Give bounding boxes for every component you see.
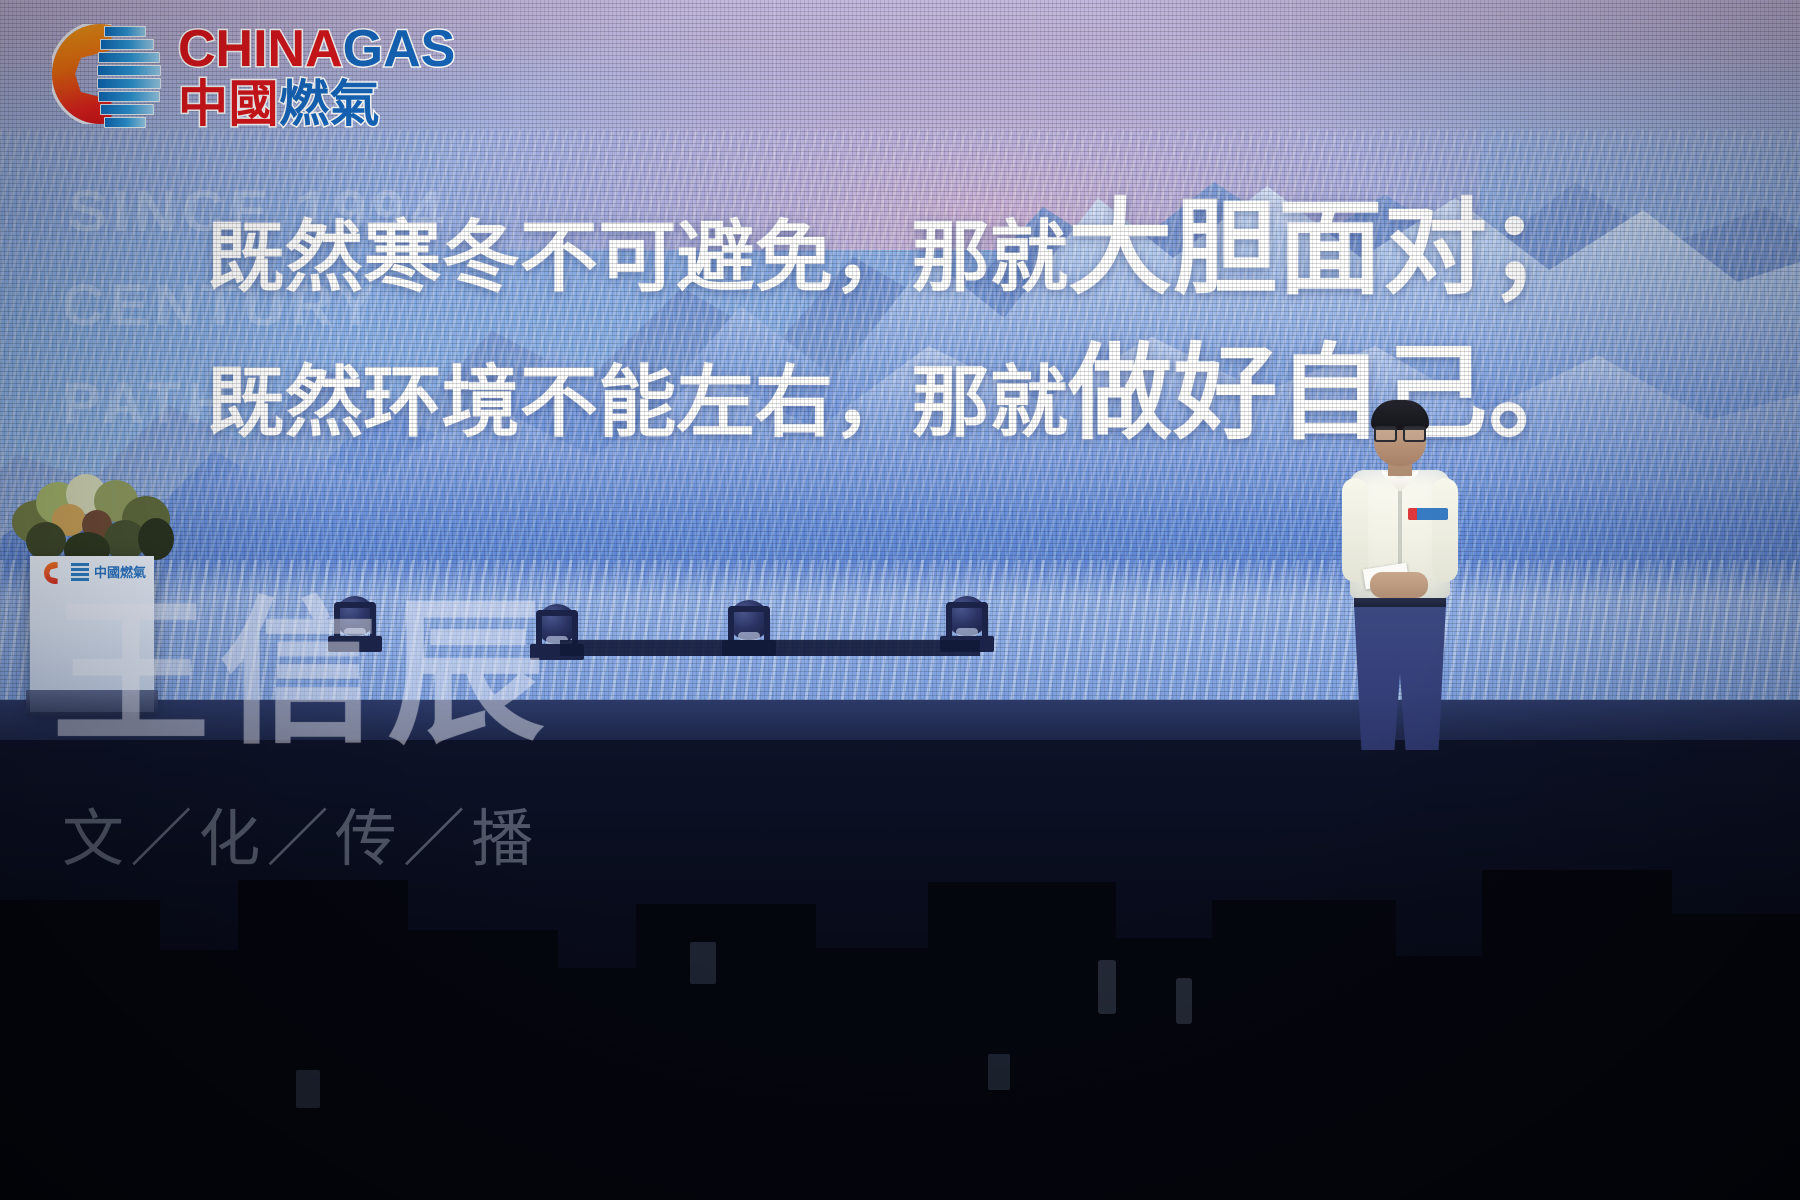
logo-wordmark: CHINAGAS 中國燃氣 — [178, 23, 455, 129]
podium-logo-cn: 中國燃氣 — [94, 566, 146, 580]
logo-en-gas: GAS — [343, 20, 456, 78]
logo-chinese-text: 中國燃氣 — [178, 79, 455, 129]
speaker-left-arm — [1342, 478, 1368, 582]
speaker-right-arm — [1432, 478, 1458, 582]
stage-cable-run — [560, 640, 980, 656]
podium-logo-text: 中國燃氣 — [94, 566, 146, 580]
moving-head-light-1 — [328, 586, 382, 652]
logo-english-text: CHINAGAS — [178, 23, 455, 75]
logo-cn-zhongguo: 中國 — [178, 76, 279, 132]
conference-stage-photo: SINCE 1994 CENTURY PATH 既然寒冬不可避免，那就大胆面对；… — [0, 0, 1800, 1200]
podium-flame-icon — [44, 562, 66, 584]
podium: 中國燃氣 — [30, 556, 154, 712]
logo-cn-ranqi: 燃氣 — [279, 76, 380, 132]
darkened-auditorium — [0, 740, 1800, 1200]
podium-base — [26, 690, 158, 716]
chinagas-shirt-badge — [1408, 508, 1448, 520]
speaker-hands — [1370, 572, 1428, 598]
speaker-trousers — [1354, 604, 1446, 750]
logo-en-china: CHINA — [178, 20, 343, 78]
glasses-icon — [1374, 426, 1426, 438]
podium-logo: 中國燃氣 — [44, 562, 146, 584]
speaker-on-stage — [1330, 404, 1470, 748]
chinagas-flame-logo-icon — [52, 22, 162, 130]
chinagas-logo: CHINAGAS 中國燃氣 — [52, 22, 455, 130]
podium-bars-icon — [71, 563, 89, 583]
logo-blue-bars — [96, 26, 162, 126]
